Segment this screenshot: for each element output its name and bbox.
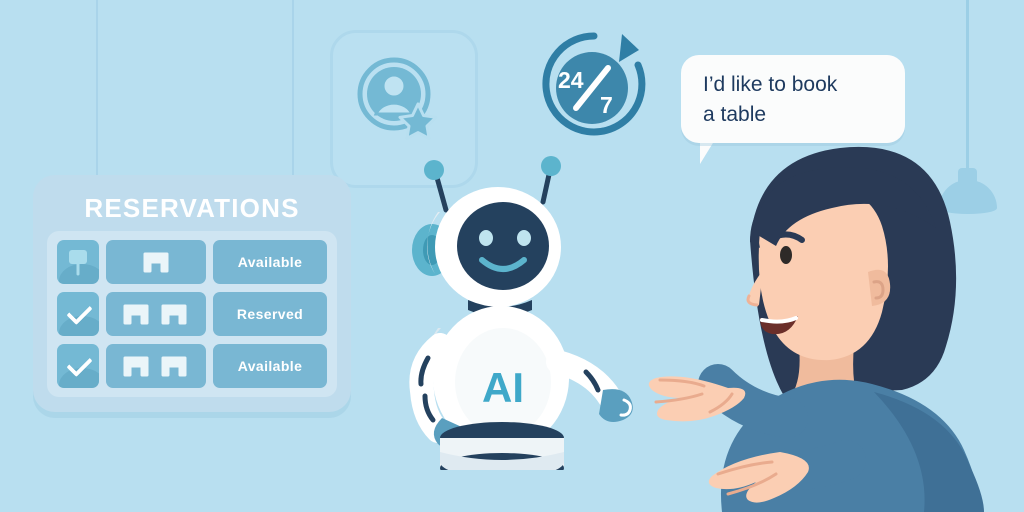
status-badge: Reserved (237, 306, 303, 322)
board-cord-left (96, 0, 98, 180)
badge-24-label: 24 (558, 67, 584, 94)
row-status-cell: Reserved (213, 292, 327, 336)
speech-line-1: I’d like to book (703, 70, 889, 100)
row-marker-cell[interactable] (57, 292, 99, 336)
row-tables-cell (106, 240, 206, 284)
table-row[interactable]: Available (57, 240, 327, 284)
table-icon (160, 355, 188, 378)
customer-woman (600, 130, 1024, 512)
speech-line-2: a table (703, 100, 889, 130)
badge-7-label: 7 (600, 92, 613, 119)
table-pin-icon (66, 248, 90, 276)
status-badge: Available (238, 254, 303, 270)
board-cord-right (292, 0, 294, 180)
row-status-cell: Available (213, 240, 327, 284)
table-icon (122, 355, 150, 378)
row-marker-cell[interactable] (57, 344, 99, 388)
table-icon (142, 251, 170, 274)
table-row[interactable]: Reserved (57, 292, 327, 336)
row-marker-cell[interactable] (57, 240, 99, 284)
table-icon (122, 303, 150, 326)
board-rows-container: Available Reserved (47, 231, 337, 397)
board-title: RESERVATIONS (33, 193, 351, 224)
row-status-cell: Available (213, 344, 327, 388)
reservations-board[interactable]: RESERVATIONS Available (33, 175, 351, 412)
row-tables-cell (106, 344, 206, 388)
status-badge: Available (238, 358, 303, 374)
robot-chest-label: AI (482, 364, 524, 411)
illustration-scene: 24 7 RESERVATIONS (0, 0, 1024, 512)
user-star-icon (352, 52, 444, 144)
table-icon (160, 303, 188, 326)
speech-bubble-text: I’d like to book a table (703, 70, 889, 130)
table-row[interactable]: Available (57, 344, 327, 388)
row-tables-cell (106, 292, 206, 336)
